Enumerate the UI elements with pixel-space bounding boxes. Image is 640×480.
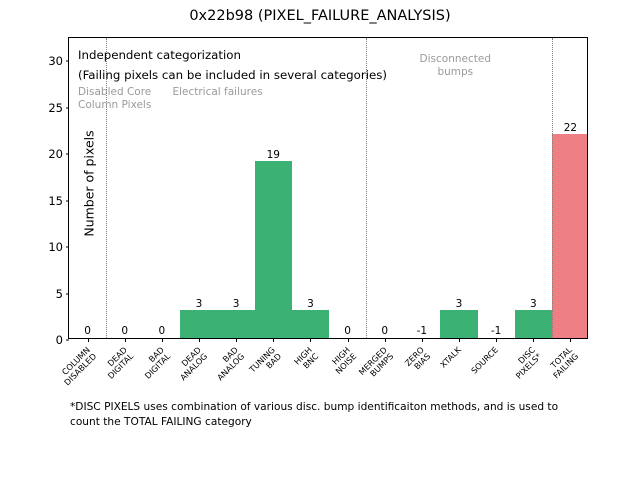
x-tick-mark [273, 338, 274, 342]
x-tick-mark [162, 338, 163, 342]
bar-xtalk[interactable] [440, 310, 477, 338]
bar-value-label: 0 [84, 325, 91, 337]
x-tick-mark [348, 338, 349, 342]
bar-value-label: 3 [233, 298, 240, 310]
x-tick-mark [570, 338, 571, 342]
bar-value-label: 3 [307, 298, 314, 310]
y-tick-label: 30 [48, 54, 63, 68]
y-tick-label: 25 [48, 101, 63, 115]
bar-dead-analog[interactable] [180, 310, 217, 338]
footnote: *DISC PIXELS uses combination of various… [70, 400, 590, 429]
group-label-line: Column Pixels [78, 99, 151, 112]
bar-value-label: 0 [121, 325, 128, 337]
y-tick-label: 10 [48, 240, 63, 254]
bar-total-failing[interactable] [552, 134, 587, 338]
bar-disc-pixels[interactable] [515, 310, 552, 338]
x-tick-mark [236, 338, 237, 342]
disabled-core-divider [106, 38, 107, 338]
group-label-line: bumps [420, 66, 491, 79]
x-tick-mark [385, 338, 386, 342]
group-label-disabled-core-column-pixels: Disabled CoreColumn Pixels [78, 86, 151, 112]
x-tick-mark [199, 338, 200, 342]
bar-value-label: -1 [491, 325, 501, 337]
bar-bad-analog[interactable] [218, 310, 255, 338]
disconnected-divider [552, 38, 553, 338]
bar-value-label: 0 [344, 325, 351, 337]
bar-high-bnc[interactable] [292, 310, 329, 338]
x-tick-mark [310, 338, 311, 342]
x-tick-mark [496, 338, 497, 342]
x-tick-mark [125, 338, 126, 342]
plot-inner [69, 38, 587, 338]
bar-value-label: 0 [159, 325, 166, 337]
bar-value-label: 19 [267, 149, 280, 161]
y-tick-label: 20 [48, 147, 63, 161]
chart-title: 0x22b98 (PIXEL_FAILURE_ANALYSIS) [0, 8, 640, 24]
bar-value-label: -1 [417, 325, 427, 337]
bar-value-label: 3 [456, 298, 463, 310]
group-label-electrical-failures: Electrical failures [172, 86, 262, 99]
bar-tuning-bad[interactable] [255, 161, 292, 338]
y-tick-label: 0 [56, 333, 63, 347]
bar-value-label: 22 [564, 122, 577, 134]
plot-area: Number of pixels 051015202530 COLUMNDISA… [68, 37, 588, 339]
group-label-line: Disabled Core [78, 86, 151, 99]
y-tick-mark [66, 340, 70, 341]
group-label-line: Electrical failures [172, 86, 262, 99]
y-tick-label: 15 [48, 194, 63, 208]
failing-pixels-note: (Failing pixels can be included in sever… [78, 68, 387, 82]
figure: 0x22b98 (PIXEL_FAILURE_ANALYSIS) Number … [0, 0, 640, 480]
group-label-line: Disconnected [420, 53, 491, 66]
independent-categorization-note: Independent categorization [78, 48, 241, 62]
bar-value-label: 3 [196, 298, 203, 310]
x-tick-mark [88, 338, 89, 342]
group-label-disconnected-bumps: Disconnectedbumps [420, 53, 491, 79]
x-tick-mark [459, 338, 460, 342]
bar-value-label: 0 [381, 325, 388, 337]
electrical-divider [366, 38, 367, 338]
bar-value-label: 3 [530, 298, 537, 310]
x-tick-mark [533, 338, 534, 342]
y-tick-label: 5 [56, 287, 63, 301]
x-tick-mark [422, 338, 423, 342]
